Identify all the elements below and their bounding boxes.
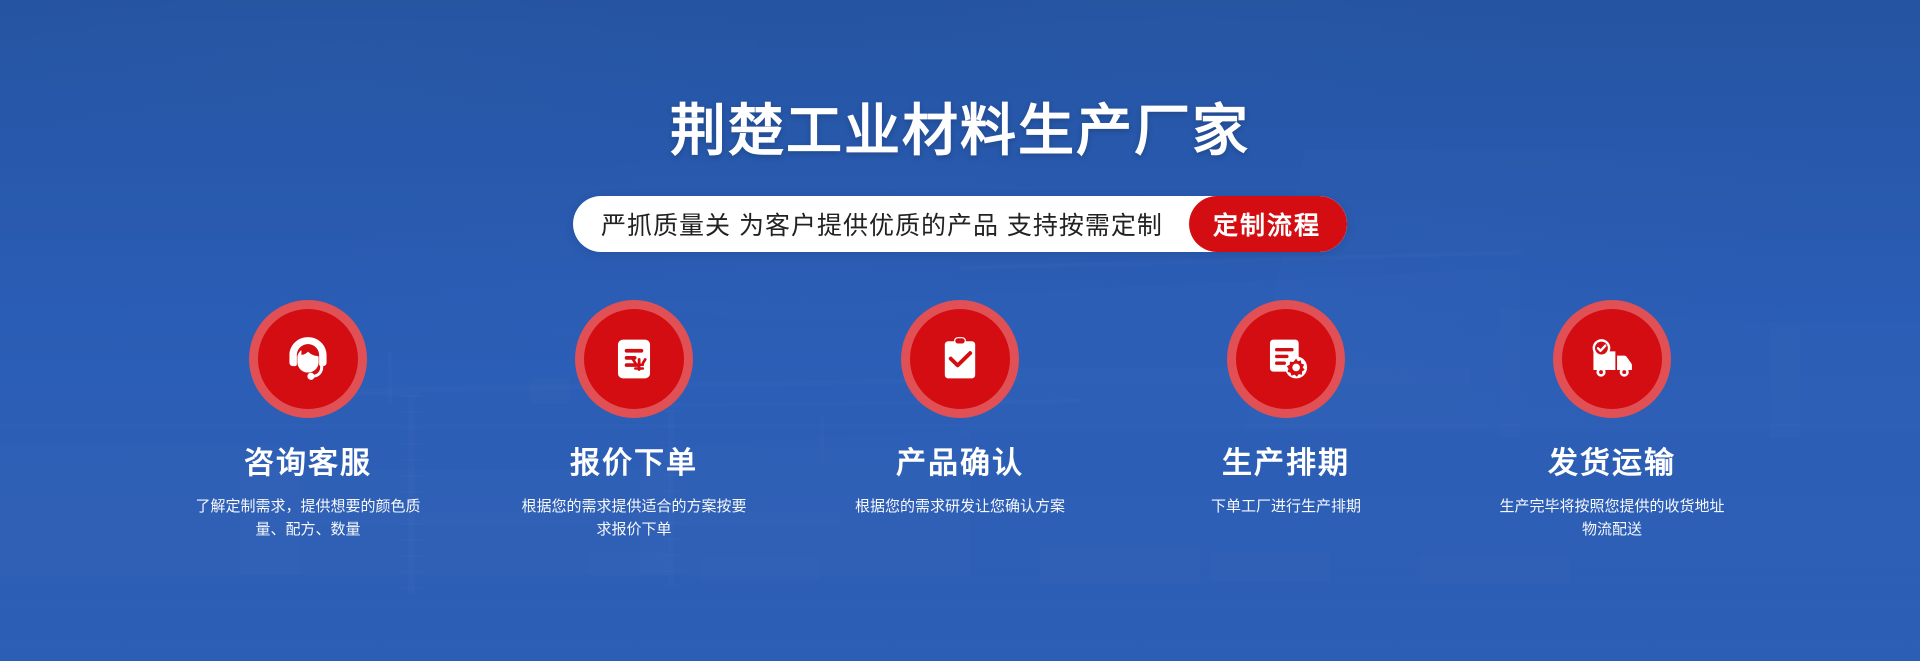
process-steps: 咨询客服 了解定制需求，提供想要的颜色质量、配方、数量: [0, 300, 1920, 542]
step-item-product-confirm[interactable]: 产品确认 根据您的需求研发让您确认方案: [830, 300, 1090, 542]
step-title: 发货运输: [1548, 447, 1676, 480]
step-description: 了解定制需求，提供想要的颜色质量、配方、数量: [192, 495, 424, 542]
slogan-text: 严抓质量关 为客户提供优质的产品 支持按需定制: [601, 206, 1189, 242]
slogan-pill: 严抓质量关 为客户提供优质的产品 支持按需定制 定制流程: [573, 196, 1347, 252]
step-description: 生产完毕将按照您提供的收货地址物流配送: [1496, 495, 1728, 542]
custom-process-button[interactable]: 定制流程: [1189, 196, 1347, 252]
document-gear-icon: [1259, 332, 1313, 386]
step-item-shipping[interactable]: 发货运输 生产完毕将按照您提供的收货地址物流配送: [1482, 300, 1742, 542]
step-description: 根据您的需求研发让您确认方案: [855, 495, 1065, 518]
step-icon-badge: [575, 300, 693, 418]
step-item-production-schedule[interactable]: 生产排期 下单工厂进行生产排期: [1156, 300, 1416, 542]
step-icon-badge: [901, 300, 1019, 418]
step-icon-badge: [1227, 300, 1345, 418]
headset-support-icon: [281, 332, 335, 386]
step-description: 下单工厂进行生产排期: [1211, 495, 1361, 518]
step-icon-badge: [249, 300, 367, 418]
step-item-consult[interactable]: 咨询客服 了解定制需求，提供想要的颜色质量、配方、数量: [178, 300, 438, 542]
step-description: 根据您的需求提供适合的方案按要求报价下单: [518, 495, 750, 542]
invoice-yuan-icon: [607, 332, 661, 386]
step-title: 生产排期: [1222, 447, 1350, 480]
page-title: 荆楚工业材料生产厂家: [0, 100, 1920, 163]
step-item-quote-order[interactable]: 报价下单 根据您的需求提供适合的方案按要求报价下单: [504, 300, 764, 542]
delivery-truck-check-icon: [1585, 332, 1639, 386]
step-title: 咨询客服: [244, 447, 372, 480]
clipboard-check-icon: [933, 332, 987, 386]
step-title: 产品确认: [896, 447, 1024, 480]
hero-banner: 荆楚工业材料生产厂家 严抓质量关 为客户提供优质的产品 支持按需定制 定制流程: [0, 0, 1920, 661]
step-icon-badge: [1553, 300, 1671, 418]
banner-content: 荆楚工业材料生产厂家 严抓质量关 为客户提供优质的产品 支持按需定制 定制流程: [0, 0, 1920, 661]
step-title: 报价下单: [570, 447, 698, 480]
